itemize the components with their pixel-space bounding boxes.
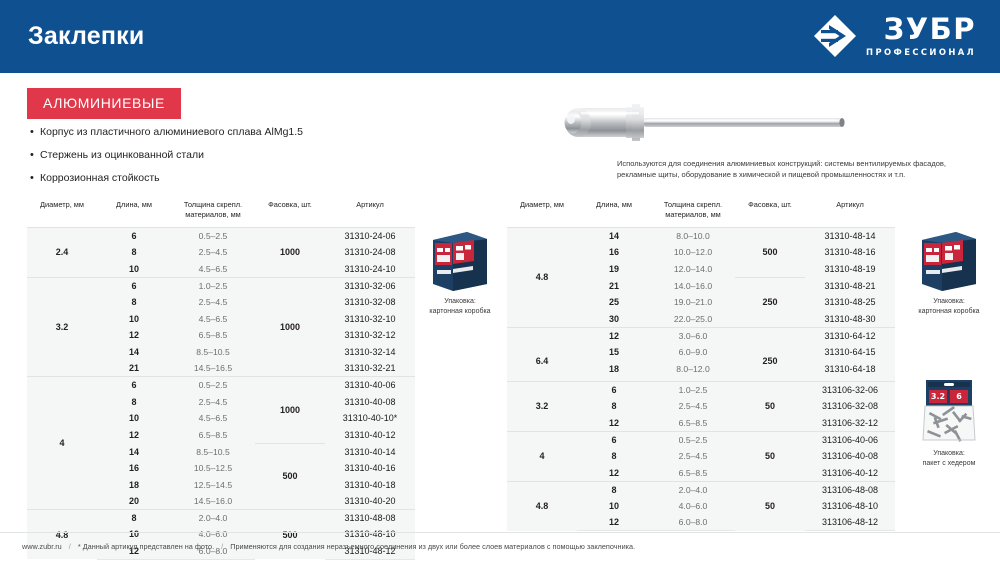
cell-article: 313106-40-08	[805, 448, 895, 465]
cell-article: 31310-24-06	[325, 228, 415, 245]
cell-article: 31310-40-08	[325, 393, 415, 410]
cell-thickness: 4.0–6.0	[651, 498, 735, 515]
cell-length: 12	[577, 327, 651, 344]
cell-diameter: 3.2	[507, 382, 577, 432]
cell-thickness: 2.5–4.5	[171, 393, 255, 410]
list-item: • Коррозионная стойкость	[30, 172, 430, 185]
packaging-caption-line1: Упаковка:	[933, 450, 965, 457]
cell-article: 313106-32-06	[805, 382, 895, 399]
cell-article: 31310-32-10	[325, 310, 415, 327]
cell-article: 31310-24-08	[325, 244, 415, 261]
cell-diameter: 4.8	[507, 481, 577, 531]
cell-length: 30	[577, 310, 651, 327]
cell-article: 31310-48-16	[805, 244, 895, 261]
footer-separator: /	[64, 542, 76, 551]
table-row: 460.5–2.550313106-40-06	[507, 431, 895, 448]
table-body: 4.8148.0–10.050031310-48-141610.0–12.031…	[507, 228, 895, 394]
cell-length: 10	[97, 310, 171, 327]
cell-thickness: 0.5–2.5	[171, 228, 255, 245]
cell-thickness: 2.0–4.0	[171, 510, 255, 527]
cell-thickness: 19.0–21.0	[651, 294, 735, 311]
cell-article: 31310-48-25	[805, 294, 895, 311]
cell-article: 31310-32-12	[325, 327, 415, 344]
cell-thickness: 12.0–14.0	[651, 261, 735, 278]
cell-thickness: 6.0–9.0	[651, 344, 735, 361]
cell-article: 313106-40-06	[805, 431, 895, 448]
table-row: 2.460.5–2.5100031310-24-06	[27, 228, 415, 245]
cardboard-box-icon	[429, 228, 491, 292]
cell-thickness: 10.5–12.5	[171, 460, 255, 477]
col-thickness-line1: Толщина скрепл.	[184, 200, 242, 209]
cell-thickness: 2.5–4.5	[651, 448, 735, 465]
col-length: Длина, мм	[577, 196, 651, 228]
footer-note-article: * Данный артикул представлен на фото.	[78, 542, 214, 551]
cell-length: 10	[97, 261, 171, 278]
cell-length: 19	[577, 261, 651, 278]
list-item: • Корпус из пластичного алюминиевого спл…	[30, 126, 430, 139]
cell-thickness: 3.0–6.0	[651, 327, 735, 344]
cell-thickness: 2.5–4.5	[171, 244, 255, 261]
cell-length: 12	[97, 327, 171, 344]
cell-length: 6	[97, 228, 171, 245]
cell-length: 8	[577, 448, 651, 465]
cell-thickness: 6.5–8.5	[651, 464, 735, 481]
cell-packing: 1000	[255, 377, 325, 443]
footer-website[interactable]: www.zubr.ru	[22, 542, 62, 551]
col-thickness-line2: материалов, мм	[185, 210, 241, 219]
cell-length: 14	[97, 443, 171, 460]
cell-length: 8	[577, 481, 651, 498]
bullet-icon: •	[30, 126, 40, 139]
cell-length: 6	[577, 431, 651, 448]
cell-packing: 50	[735, 382, 805, 432]
feature-list: • Корпус из пластичного алюминиевого спл…	[30, 126, 430, 195]
cell-length: 14	[97, 344, 171, 361]
cell-article: 31310-32-21	[325, 360, 415, 377]
col-length: Длина, мм	[97, 196, 171, 228]
packaging-caption: Упаковка: картонная коробка	[404, 297, 516, 316]
table-row: 3.261.0–2.5100031310-32-06	[27, 277, 415, 294]
product-description: Используются для соединения алюминиевых …	[617, 158, 962, 180]
cell-article: 31310-48-30	[805, 310, 895, 327]
cell-thickness: 2.5–4.5	[171, 294, 255, 311]
cell-article: 31310-64-12	[805, 327, 895, 344]
bullet-icon: •	[30, 172, 40, 185]
cell-thickness: 2.0–4.0	[651, 481, 735, 498]
svg-text:6: 6	[956, 392, 962, 401]
col-thickness: Толщина скрепл. материалов, мм	[171, 196, 255, 228]
cell-thickness: 14.5–16.0	[171, 493, 255, 510]
cell-thickness: 14.0–16.0	[651, 277, 735, 294]
cell-packing: 250	[735, 277, 805, 327]
cell-thickness: 8.5–10.5	[171, 344, 255, 361]
col-diameter: Диаметр, мм	[27, 196, 97, 228]
bullet-icon: •	[30, 149, 40, 162]
list-item: • Стержень из оцинкованной стали	[30, 149, 430, 162]
cell-thickness: 1.0–2.5	[651, 382, 735, 399]
cell-article: 31310-48-14	[805, 228, 895, 245]
col-thickness-line1: Толщина скрепл.	[664, 200, 722, 209]
table-row: 4.8148.0–10.050031310-48-14	[507, 228, 895, 245]
packaging-caption-line2: пакет с хедером	[923, 460, 976, 467]
cell-article: 313106-48-08	[805, 481, 895, 498]
table-row: 460.5–2.5100031310-40-06	[27, 377, 415, 394]
cell-thickness: 4.5–6.5	[171, 310, 255, 327]
cell-length: 21	[97, 360, 171, 377]
cell-thickness: 6.5–8.5	[171, 327, 255, 344]
cell-length: 25	[577, 294, 651, 311]
spec-table-left: Диаметр, мм Длина, мм Толщина скрепл. ма…	[27, 196, 415, 560]
spec-table-right-top: Диаметр, мм Длина, мм Толщина скрепл. ма…	[507, 196, 895, 394]
table-row: 3.261.0–2.550313106-32-06	[507, 382, 895, 399]
cell-article: 31310-64-15	[805, 344, 895, 361]
cell-length: 12	[577, 514, 651, 531]
cell-article: 31310-24-10	[325, 261, 415, 278]
cell-article: 31310-32-08	[325, 294, 415, 311]
cell-article: 313106-40-12	[805, 464, 895, 481]
cell-diameter: 4	[27, 377, 97, 510]
cell-thickness: 14.5–16.5	[171, 360, 255, 377]
cell-thickness: 6.5–8.5	[651, 415, 735, 432]
cell-article: 31310-40-20	[325, 493, 415, 510]
cell-length: 6	[577, 382, 651, 399]
cell-thickness: 10.0–12.0	[651, 244, 735, 261]
cell-length: 14	[577, 228, 651, 245]
cell-diameter: 3.2	[27, 277, 97, 377]
packaging-caption-line2: картонная коробка	[429, 308, 490, 315]
cell-thickness: 1.0–2.5	[171, 277, 255, 294]
cell-thickness: 6.5–8.5	[171, 427, 255, 444]
page-footer: www.zubr.ru / * Данный артикул представл…	[0, 532, 1000, 562]
cardboard-box-icon	[918, 228, 980, 292]
cell-length: 10	[577, 498, 651, 515]
cell-length: 8	[97, 393, 171, 410]
cell-length: 16	[577, 244, 651, 261]
cell-article: 313106-48-10	[805, 498, 895, 515]
cell-packing: 50	[735, 481, 805, 531]
cell-length: 18	[97, 476, 171, 493]
cell-length: 20	[97, 493, 171, 510]
packaging-figure-box-left: Упаковка: картонная коробка	[404, 228, 516, 316]
cell-article: 31310-48-21	[805, 277, 895, 294]
cell-thickness: 0.5–2.5	[171, 377, 255, 394]
cell-thickness: 4.5–6.5	[171, 261, 255, 278]
cell-packing: 500	[255, 443, 325, 509]
cell-length: 8	[97, 294, 171, 311]
page-header: Заклепки ЗУБР ПРОФЕССИОНАЛ	[0, 0, 1000, 73]
col-thickness: Толщина скрепл. материалов, мм	[651, 196, 735, 228]
cell-thickness: 22.0–25.0	[651, 310, 735, 327]
cell-length: 18	[577, 360, 651, 377]
cell-length: 12	[97, 427, 171, 444]
brand-name: ЗУБР	[884, 15, 976, 44]
rivet-product-image	[548, 100, 908, 151]
cell-thickness: 12.5–14.5	[171, 476, 255, 493]
brand-tagline: ПРОФЕССИОНАЛ	[866, 47, 976, 57]
packaging-figure-box-right: Упаковка: картонная коробка	[893, 228, 1000, 316]
brand-logo: ЗУБР ПРОФЕССИОНАЛ	[813, 14, 976, 58]
packaging-caption-line1: Упаковка:	[444, 298, 476, 305]
cell-length: 21	[577, 277, 651, 294]
footer-separator: /	[216, 542, 228, 551]
cell-length: 8	[97, 244, 171, 261]
catalog-page: Заклепки ЗУБР ПРОФЕССИОНАЛ АЛЮМИНИЕВЫЕ •…	[0, 0, 1000, 562]
cell-article: 31310-48-08	[325, 510, 415, 527]
page-title: Заклепки	[28, 22, 144, 51]
col-diameter: Диаметр, мм	[507, 196, 577, 228]
spec-table-right-bottom: 3.261.0–2.550313106-32-0682.5–4.5313106-…	[507, 381, 895, 531]
cell-diameter: 4.8	[507, 228, 577, 328]
header-bag-icon: 3.2 6	[916, 378, 982, 444]
cell-article: 313106-48-12	[805, 514, 895, 531]
cell-length: 8	[577, 398, 651, 415]
cell-article: 31310-32-06	[325, 277, 415, 294]
cell-article: 31310-48-19	[805, 261, 895, 278]
cell-length: 12	[577, 464, 651, 481]
packaging-caption: Упаковка: пакет с хедером	[893, 449, 1000, 468]
cell-length: 8	[97, 510, 171, 527]
cell-thickness: 2.5–4.5	[651, 398, 735, 415]
table-row: 4.882.0–4.050313106-48-08	[507, 481, 895, 498]
table-body: 2.460.5–2.5100031310-24-0682.5–4.531310-…	[27, 228, 415, 560]
cell-length: 12	[577, 415, 651, 432]
cell-thickness: 8.5–10.5	[171, 443, 255, 460]
cell-thickness: 8.0–12.0	[651, 360, 735, 377]
cell-length: 15	[577, 344, 651, 361]
table-header-row: Диаметр, мм Длина, мм Толщина скрепл. ма…	[507, 196, 895, 228]
table-body: 3.261.0–2.550313106-32-0682.5–4.5313106-…	[507, 382, 895, 531]
cell-thickness: 0.5–2.5	[651, 431, 735, 448]
cell-article: 31310-40-12	[325, 427, 415, 444]
col-thickness-line2: материалов, мм	[665, 210, 721, 219]
footer-note-usage: Применяются для создания неразъемного со…	[230, 542, 635, 551]
table-row: 4.882.0–4.050031310-48-08	[27, 510, 415, 527]
cell-thickness: 6.0–8.0	[651, 514, 735, 531]
cell-article: 31310-40-16	[325, 460, 415, 477]
cell-article: 31310-40-14	[325, 443, 415, 460]
col-packing: Фасовка, шт.	[735, 196, 805, 228]
category-badge: АЛЮМИНИЕВЫЕ	[27, 88, 181, 119]
packaging-caption: Упаковка: картонная коробка	[893, 297, 1000, 316]
packaging-caption-line2: картонная коробка	[918, 308, 979, 315]
cell-article: 31310-32-14	[325, 344, 415, 361]
packaging-caption-line1: Упаковка:	[933, 298, 965, 305]
cell-article: 313106-32-12	[805, 415, 895, 432]
cell-thickness: 8.0–10.0	[651, 228, 735, 245]
cell-length: 16	[97, 460, 171, 477]
cell-length: 6	[97, 277, 171, 294]
cell-packing: 1000	[255, 228, 325, 278]
cell-packing: 500	[735, 228, 805, 278]
cell-article: 31310-64-18	[805, 360, 895, 377]
cell-article: 31310-40-06	[325, 377, 415, 394]
packaging-figure-bag: 3.2 6 Упаковка: пакет с хедером	[893, 378, 1000, 468]
col-article: Артикул	[805, 196, 895, 228]
cell-length: 10	[97, 410, 171, 427]
cell-diameter: 2.4	[27, 228, 97, 278]
cell-packing: 1000	[255, 277, 325, 377]
cell-diameter: 4	[507, 431, 577, 481]
cell-article: 31310-40-18	[325, 476, 415, 493]
col-article: Артикул	[325, 196, 415, 228]
table-header-row: Диаметр, мм Длина, мм Толщина скрепл. ма…	[27, 196, 415, 228]
cell-article: 313106-32-08	[805, 398, 895, 415]
cell-packing: 50	[735, 431, 805, 481]
table-row: 6.4123.0–6.025031310-64-12	[507, 327, 895, 344]
svg-text:3.2: 3.2	[931, 392, 945, 401]
cell-article: 31310-40-10*	[325, 410, 415, 427]
cell-thickness: 4.5–6.5	[171, 410, 255, 427]
col-packing: Фасовка, шт.	[255, 196, 325, 228]
zubr-diamond-icon	[813, 14, 857, 58]
feature-text: Стержень из оцинкованной стали	[40, 149, 204, 162]
feature-text: Коррозионная стойкость	[40, 172, 160, 185]
feature-text: Корпус из пластичного алюминиевого сплав…	[40, 126, 303, 139]
cell-length: 6	[97, 377, 171, 394]
